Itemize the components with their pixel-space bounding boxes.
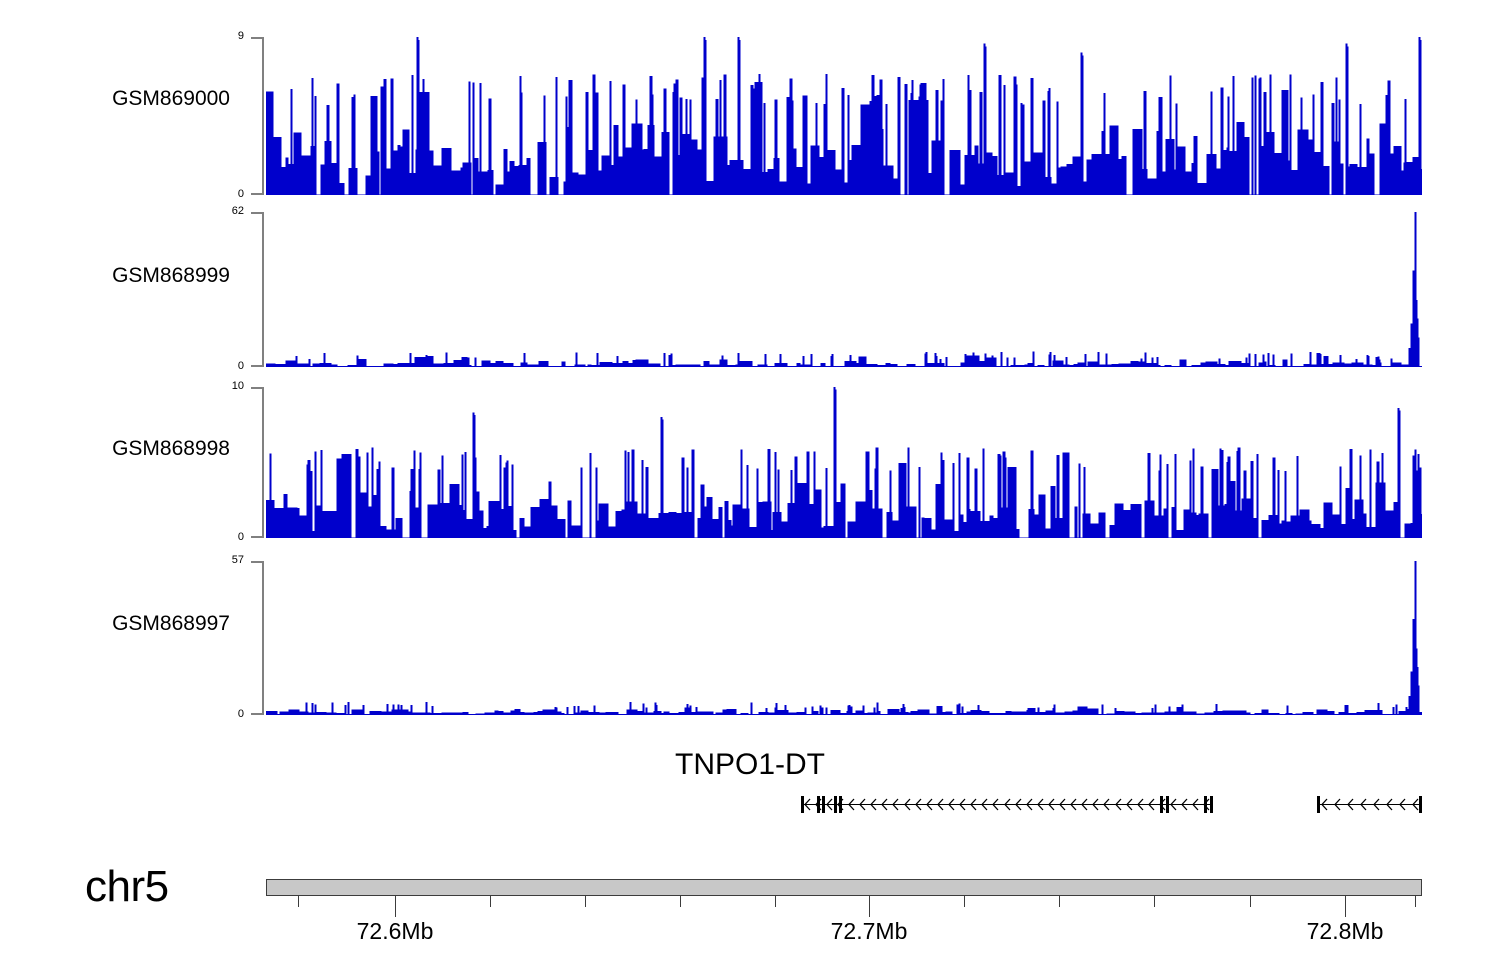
strand-arrow-icon <box>959 798 966 811</box>
track-signal-plot[interactable] <box>266 212 1422 367</box>
axis-tick-min <box>251 713 262 715</box>
track-sample-label: GSM868997 <box>40 612 230 636</box>
coord-tick-minor <box>1250 896 1251 907</box>
strand-arrow-icon <box>1347 798 1354 811</box>
strand-arrow-icon <box>1092 798 1099 811</box>
strand-arrow-icon <box>1148 798 1155 811</box>
coord-tick-minor <box>1059 896 1060 907</box>
coord-tick-minor <box>585 896 586 907</box>
strand-arrow-icon <box>992 798 999 811</box>
coord-tick-label: 72.7Mb <box>831 918 908 945</box>
strand-arrow-icon <box>1137 798 1144 811</box>
strand-arrow-icon <box>1004 798 1011 811</box>
gene-annotation-track[interactable] <box>0 740 1500 840</box>
axis-tick-max <box>251 37 262 39</box>
exon-block[interactable] <box>1210 796 1213 813</box>
coord-tick-minor <box>680 896 681 907</box>
strand-arrow-icon <box>926 798 933 811</box>
strand-arrow-icon <box>937 798 944 811</box>
strand-arrow-icon <box>1386 798 1393 811</box>
track-signal-plot[interactable] <box>266 37 1422 195</box>
strand-arrow-icon <box>870 798 877 811</box>
track-axis-line <box>262 212 264 367</box>
strand-arrow-icon <box>1048 798 1055 811</box>
track-axis-line <box>262 561 264 715</box>
ideogram-bar[interactable] <box>266 879 1422 896</box>
strand-arrow-icon <box>1412 798 1419 811</box>
strand-arrow-icon <box>1070 798 1077 811</box>
track-sample-label: GSM868999 <box>40 264 230 288</box>
coord-tick-minor <box>490 896 491 907</box>
track-axis-line <box>262 37 264 195</box>
coord-tick-minor <box>298 896 299 907</box>
strand-arrow-icon <box>915 798 922 811</box>
strand-arrow-icon <box>1170 798 1177 811</box>
axis-tick-max <box>251 561 262 563</box>
coord-tick-label: 72.8Mb <box>1307 918 1384 945</box>
strand-arrow-icon <box>1192 798 1199 811</box>
exon-block[interactable] <box>834 796 837 813</box>
coord-tick-minor <box>964 896 965 907</box>
axis-tick-max <box>251 212 262 214</box>
strand-arrow-icon <box>848 798 855 811</box>
strand-arrow-icon <box>1037 798 1044 811</box>
strand-arrow-icon <box>970 798 977 811</box>
strand-arrow-icon <box>826 798 833 811</box>
axis-tick-min <box>251 193 262 195</box>
strand-arrow-icon <box>1321 798 1328 811</box>
strand-arrow-icon <box>1373 798 1380 811</box>
coord-tick-major <box>1345 896 1346 917</box>
exon-block[interactable] <box>817 796 820 813</box>
strand-arrow-icon <box>1081 798 1088 811</box>
strand-arrow-icon <box>1115 798 1122 811</box>
track-sample-label: GSM869000 <box>40 87 230 111</box>
genome-browser: GSM86900090GSM868999620GSM868998100GSM86… <box>0 0 1500 980</box>
axis-max-label: 10 <box>208 381 244 392</box>
gene-transcript[interactable] <box>801 790 1215 820</box>
strand-arrow-icon <box>892 798 899 811</box>
exon-block[interactable] <box>822 796 825 813</box>
axis-min-label: 0 <box>208 709 244 720</box>
axis-min-label: 0 <box>208 361 244 372</box>
axis-min-label: 0 <box>208 189 244 200</box>
axis-tick-max <box>251 387 262 389</box>
strand-arrow-icon <box>1026 798 1033 811</box>
track-sample-label: GSM868998 <box>40 437 230 461</box>
axis-min-label: 0 <box>208 532 244 543</box>
strand-arrow-icon <box>1059 798 1066 811</box>
axis-tick-min <box>251 365 262 367</box>
exon-block[interactable] <box>1419 796 1422 813</box>
exon-block[interactable] <box>1204 796 1207 813</box>
axis-max-label: 57 <box>208 555 244 566</box>
strand-arrow-icon <box>1399 798 1406 811</box>
strand-arrow-icon <box>904 798 911 811</box>
gene-transcript[interactable] <box>1317 790 1424 820</box>
track-signal-plot[interactable] <box>266 387 1422 538</box>
axis-max-label: 9 <box>208 31 244 42</box>
strand-arrow-icon <box>1334 798 1341 811</box>
strand-arrow-icon <box>804 798 811 811</box>
coord-tick-minor <box>775 896 776 907</box>
exon-block[interactable] <box>839 796 842 813</box>
track-axis-line <box>262 387 264 538</box>
strand-arrow-icon <box>1181 798 1188 811</box>
coord-tick-minor <box>1154 896 1155 907</box>
exon-block[interactable] <box>1160 796 1163 813</box>
coord-tick-major <box>869 896 870 917</box>
chromosome-label: chr5 <box>85 862 169 912</box>
strand-arrow-icon <box>881 798 888 811</box>
strand-arrow-icon <box>1103 798 1110 811</box>
axis-max-label: 62 <box>208 206 244 217</box>
track-signal-plot[interactable] <box>266 561 1422 715</box>
coord-tick-minor <box>1415 896 1416 907</box>
strand-arrow-icon <box>1126 798 1133 811</box>
coord-tick-major <box>395 896 396 917</box>
exon-block[interactable] <box>1166 796 1169 813</box>
strand-arrow-icon <box>1360 798 1367 811</box>
strand-arrow-icon <box>981 798 988 811</box>
strand-arrow-icon <box>1015 798 1022 811</box>
strand-arrow-icon <box>859 798 866 811</box>
axis-tick-min <box>251 536 262 538</box>
coord-tick-label: 72.6Mb <box>357 918 434 945</box>
exon-block[interactable] <box>1317 796 1320 813</box>
exon-block[interactable] <box>801 796 804 813</box>
strand-arrow-icon <box>948 798 955 811</box>
